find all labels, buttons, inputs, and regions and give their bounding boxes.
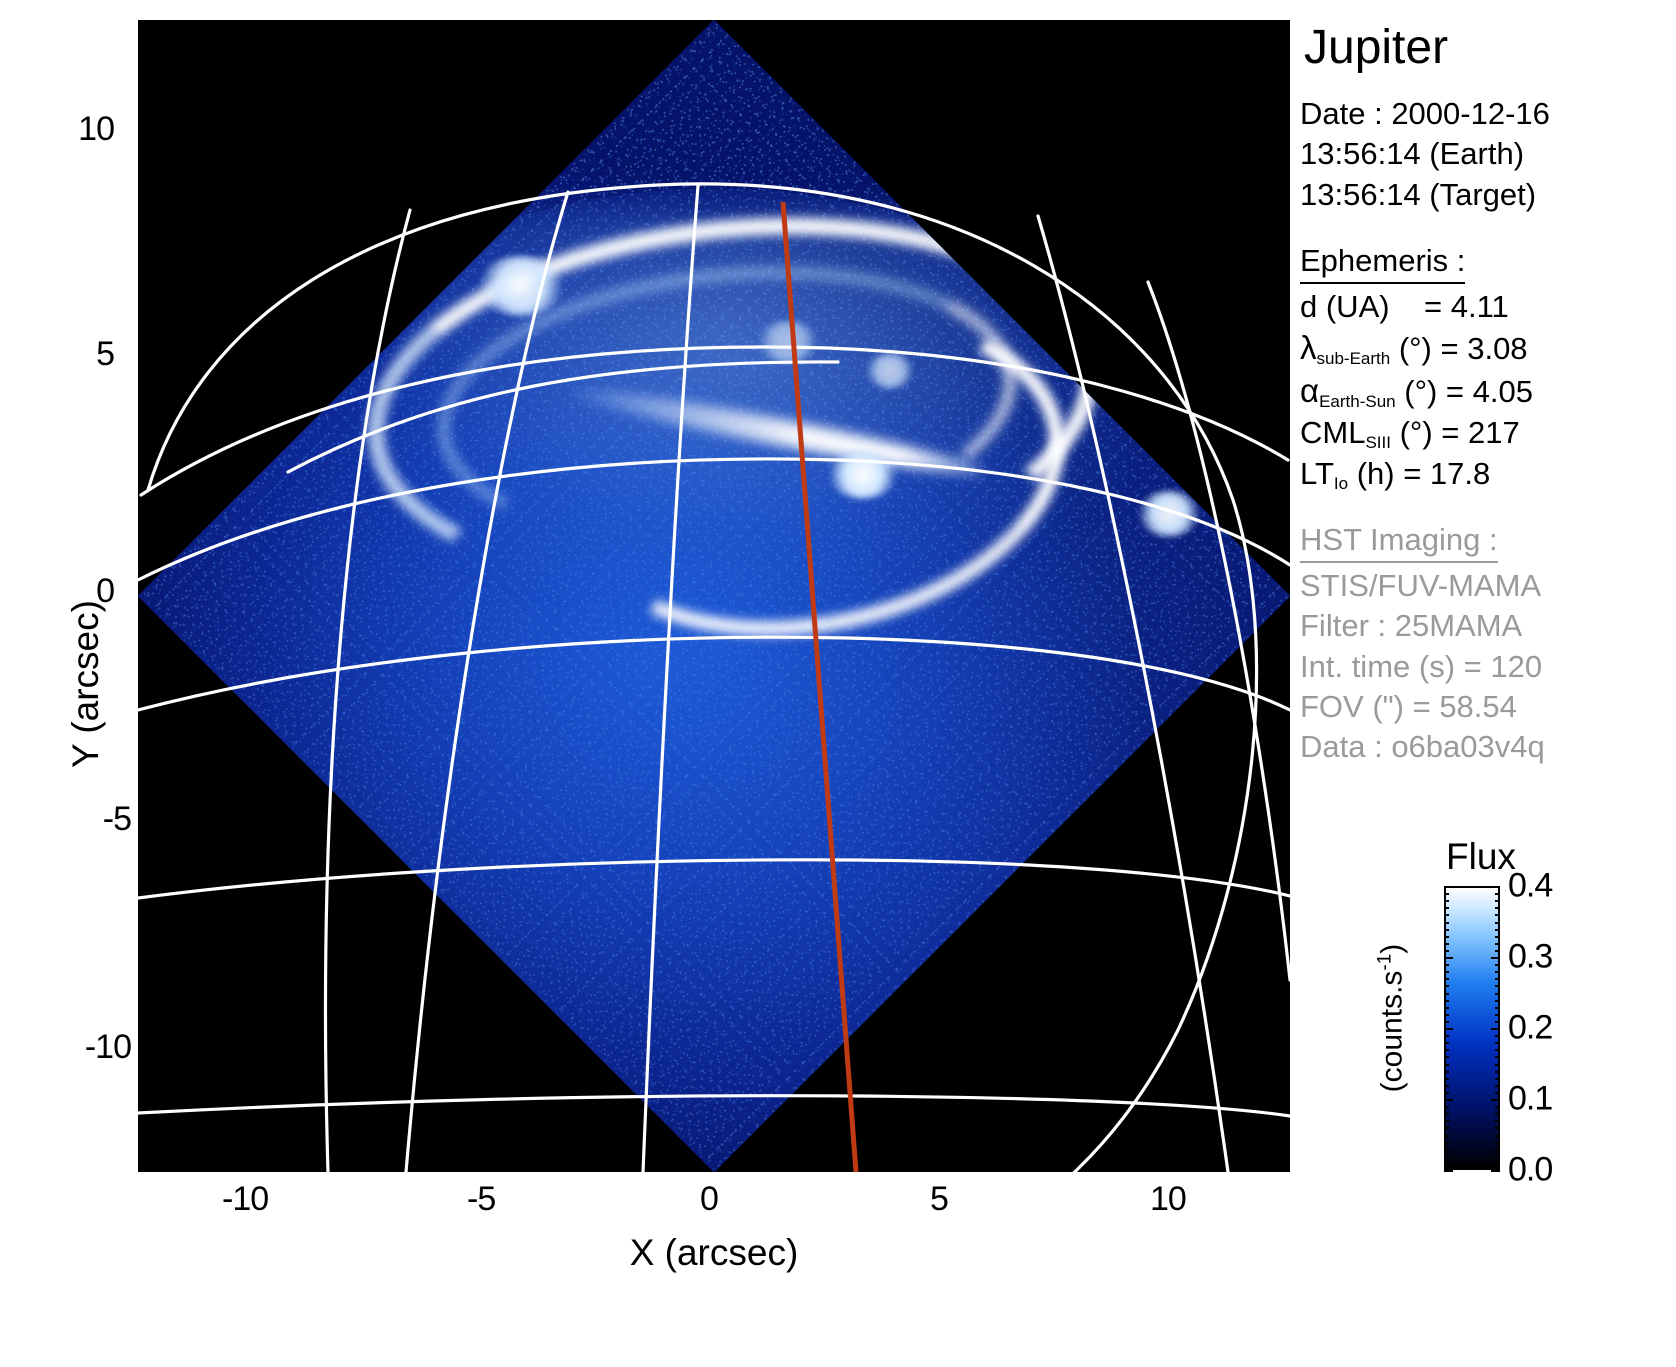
colorbar-tick-mark [1491,957,1500,959]
colorbar-units-label: (counts.s-1) [1375,944,1410,1093]
x-tick-label: 10 [1150,1180,1186,1219]
y-tick-label: -10 [85,1028,131,1067]
colorbar-tick-mark [1444,985,1449,987]
alpha-value: = 4.05 [1446,374,1533,409]
alpha-unit: (°) [1404,374,1437,409]
colorbar-tick-mark [1495,1120,1500,1122]
colorbar-tick-mark [1495,900,1500,902]
colorbar-tick-mark [1444,1028,1453,1030]
colorbar-tick-mark [1444,936,1449,938]
ephemeris-cml-row: CMLSIII (°) = 217 [1300,413,1676,453]
colorbar-tick-mark [1495,929,1500,931]
cml-subscript: SIII [1365,433,1391,452]
hst-section-header: HST Imaging : [1300,520,1676,566]
colorbar-tick-mark [1495,914,1500,916]
hst-instrument: STIS/FUV-MAMA [1300,566,1676,606]
colorbar-tick-mark [1495,907,1500,909]
colorbar-tick-mark [1444,1042,1449,1044]
colorbar-tick-mark [1444,1000,1449,1002]
colorbar-tick-mark [1444,1007,1449,1009]
colorbar-tick-label: 0.3 [1508,938,1552,977]
colorbar-tick-mark [1444,1163,1449,1165]
colorbar-tick-mark [1444,971,1449,973]
colorbar-tick-mark [1491,886,1500,888]
colorbar-tick-mark [1444,978,1449,980]
lambda-subscript: sub-Earth [1317,349,1391,368]
colorbar-tick-mark [1495,1035,1500,1037]
lt-value: = 17.8 [1403,456,1490,491]
colorbar-tick-mark [1495,1071,1500,1073]
colorbar-tick-mark [1444,1021,1449,1023]
colorbar-tick-mark [1495,1163,1500,1165]
x-tick-label: 5 [930,1180,948,1219]
colorbar-tick-label: 0.1 [1508,1080,1552,1119]
colorbar-tick-mark [1495,1127,1500,1129]
aurora-bright-spot [758,320,818,362]
colorbar-units-paren: ) [1376,944,1409,954]
colorbar-tick-mark [1444,1099,1453,1101]
lt-subscript: Io [1334,474,1348,493]
colorbar-tick-mark [1495,1078,1500,1080]
colorbar-tick-mark [1495,971,1500,973]
x-tick-label: 0 [700,1180,718,1219]
colorbar-tick-mark [1495,1064,1500,1066]
cml-label: CML [1300,415,1365,450]
alpha-symbol: α [1300,372,1319,409]
ephemeris-sub-earth-latitude-row: λsub-Earth (°) = 3.08 [1300,327,1676,370]
colorbar-tick-label: 0.4 [1508,867,1552,906]
colorbar-tick-mark [1495,1014,1500,1016]
aurora-bright-spot [478,255,564,315]
ephemeris-section-header: Ephemeris : [1300,241,1676,287]
aurora-bright-spot [1138,490,1200,536]
colorbar-tick-mark [1444,1170,1453,1172]
cml-value: = 217 [1441,415,1519,450]
ephemeris-io-local-time-row: LTIo (h) = 17.8 [1300,454,1676,494]
ephemeris-distance-row: d (UA) = 4.11 [1300,287,1676,327]
colorbar-tick-mark [1444,1113,1449,1115]
colorbar-tick-mark [1495,993,1500,995]
colorbar-tick-mark [1444,1120,1449,1122]
colorbar-tick-mark [1444,1014,1449,1016]
hst-field-of-view: FOV (") = 58.54 [1300,687,1676,727]
colorbar-tick-mark [1495,1113,1500,1115]
y-tick-label: 5 [96,335,114,374]
colorbar-tick-label: 0.2 [1508,1009,1552,1048]
colorbar: Flux 0.4 0.3 0.2 0.1 0.0 (counts.s-1) [1300,836,1676,1236]
colorbar-tick-mark [1444,1106,1449,1108]
colorbar-tick-mark [1491,1028,1500,1030]
colorbar-tick-label: 0.0 [1508,1151,1552,1190]
colorbar-tick-mark [1495,978,1500,980]
colorbar-title: Flux [1446,836,1516,878]
colorbar-tick-mark [1444,922,1449,924]
colorbar-tick-mark [1495,1000,1500,1002]
colorbar-tick-mark [1444,1127,1449,1129]
colorbar-tick-mark [1444,943,1449,945]
colorbar-tick-mark [1495,936,1500,938]
colorbar-tick-mark [1495,1085,1500,1087]
colorbar-tick-mark [1495,1135,1500,1137]
distance-label: d (UA) [1300,289,1390,324]
colorbar-tick-mark [1444,1135,1449,1137]
hst-dataset-id: Data : o6ba03v4q [1300,727,1676,767]
observation-time-target: 13:56:14 (Target) [1300,175,1676,215]
distance-value: = 4.11 [1424,289,1509,324]
lt-label: LT [1300,456,1334,491]
colorbar-tick-mark [1444,1156,1449,1158]
colorbar-tick-mark [1444,1071,1449,1073]
image-panel [138,20,1290,1172]
colorbar-tick-mark [1495,1021,1500,1023]
aurora-bright-spot [866,352,914,388]
colorbar-tick-mark [1444,914,1449,916]
cml-unit: (°) [1400,415,1433,450]
colorbar-tick-mark [1495,985,1500,987]
annotation-panel: Jupiter Date : 2000-12-16 13:56:14 (Eart… [1300,14,1676,768]
y-tick-label: -5 [103,800,131,839]
colorbar-tick-mark [1495,950,1500,952]
colorbar-tick-mark [1444,1078,1449,1080]
colorbar-tick-mark [1444,993,1449,995]
lt-unit: (h) [1357,456,1395,491]
colorbar-tick-mark [1495,1092,1500,1094]
y-tick-label: 10 [78,110,114,149]
colorbar-ticks [1444,886,1500,1170]
colorbar-tick-mark [1495,964,1500,966]
colorbar-tick-mark [1444,893,1449,895]
colorbar-tick-mark [1491,1170,1500,1172]
colorbar-tick-mark [1444,1049,1449,1051]
alpha-subscript: Earth-Sun [1319,392,1396,411]
colorbar-tick-mark [1495,1042,1500,1044]
lambda-value: = 3.08 [1441,331,1528,366]
colorbar-tick-mark [1495,893,1500,895]
colorbar-tick-mark [1444,950,1449,952]
colorbar-tick-mark [1495,1056,1500,1058]
x-tick-label: -10 [222,1180,268,1219]
colorbar-tick-mark [1495,1007,1500,1009]
io-footprint-spot [828,450,898,498]
y-axis-label: Y (arcsec) [65,600,107,768]
hst-header-text: HST Imaging : [1300,520,1498,563]
observation-time-earth: 13:56:14 (Earth) [1300,134,1676,174]
colorbar-tick-mark [1444,886,1453,888]
colorbar-tick-mark [1495,1106,1500,1108]
ephemeris-header-text: Ephemeris : [1300,241,1465,284]
colorbar-tick-mark [1444,900,1449,902]
lambda-unit: (°) [1399,331,1432,366]
colorbar-tick-mark [1444,1056,1449,1058]
colorbar-tick-mark [1444,964,1449,966]
page-title: Jupiter [1304,24,1676,72]
colorbar-tick-mark [1444,1085,1449,1087]
colorbar-tick-mark [1495,1142,1500,1144]
hst-integration-time: Int. time (s) = 120 [1300,647,1676,687]
colorbar-units-exponent: -1 [1375,954,1396,971]
colorbar-tick-mark [1444,1064,1449,1066]
x-axis-label: X (arcsec) [138,1232,1290,1274]
ephemeris-phase-angle-row: αEarth-Sun (°) = 4.05 [1300,370,1676,413]
x-tick-label: -5 [467,1180,495,1219]
colorbar-tick-mark [1444,1035,1449,1037]
hst-filter: Filter : 25MAMA [1300,606,1676,646]
colorbar-units-text: (counts.s [1376,971,1409,1093]
colorbar-tick-mark [1444,957,1453,959]
colorbar-tick-mark [1444,1149,1449,1151]
colorbar-tick-mark [1444,1092,1449,1094]
colorbar-tick-mark [1444,1142,1449,1144]
colorbar-tick-mark [1495,1156,1500,1158]
colorbar-tick-mark [1444,907,1449,909]
colorbar-tick-mark [1491,1099,1500,1101]
observation-date: Date : 2000-12-16 [1300,94,1676,134]
colorbar-tick-mark [1495,943,1500,945]
colorbar-tick-mark [1495,922,1500,924]
colorbar-tick-mark [1495,1049,1500,1051]
lambda-symbol: λ [1300,329,1317,366]
colorbar-tick-mark [1495,1149,1500,1151]
colorbar-tick-mark [1444,929,1449,931]
